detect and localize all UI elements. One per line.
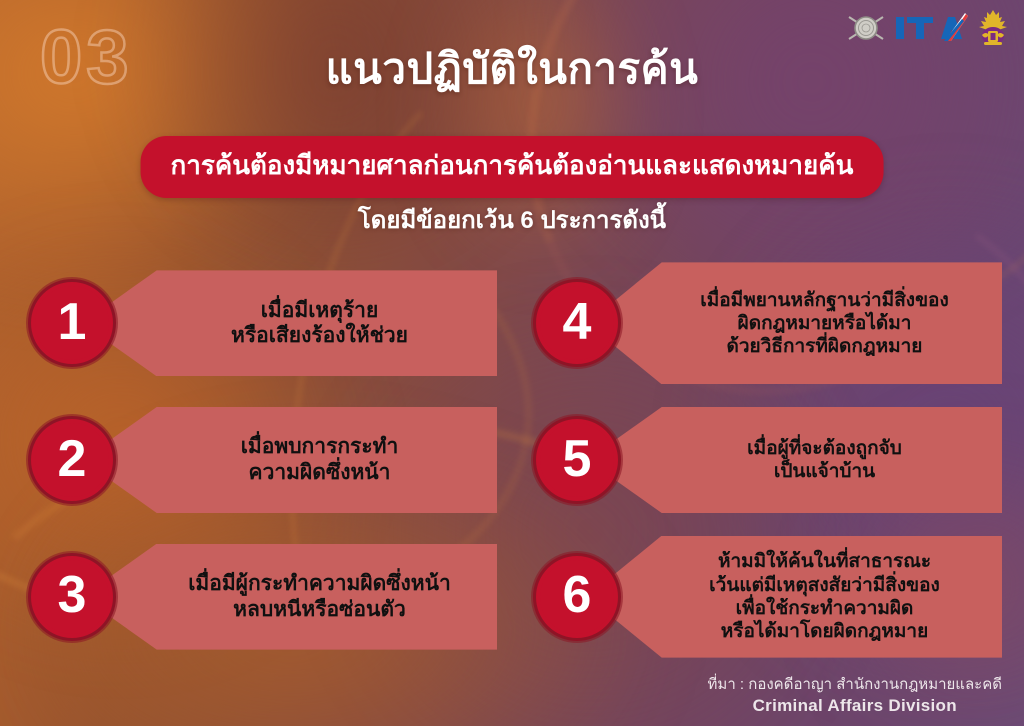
item-text: เมื่อมีพยานหลักฐานว่ามีสิ่งของ ผิดกฎหมาย… (700, 289, 949, 359)
item-number-badge: 2 (28, 416, 116, 504)
list-item[interactable]: 4 เมื่อมีพยานหลักฐานว่ามีสิ่งของ ผิดกฎหม… (533, 255, 1002, 392)
item-number-badge: 6 (533, 553, 621, 641)
item-text-line: หรือเสียงร้องให้ช่วย (231, 323, 408, 349)
item-text-line: ความผิดซึ่งหน้า (241, 460, 399, 486)
item-number-badge: 1 (28, 279, 116, 367)
list-item[interactable]: 3 เมื่อมีผู้กระทำความผิดซึ่งหน้า หลบหนีห… (28, 528, 497, 665)
source-credit-english: Criminal Affairs Division (708, 695, 1002, 718)
list-item[interactable]: 2 เมื่อพบการกระทำ ความผิดซึ่งหน้า (28, 392, 497, 529)
item-text: เมื่อมีเหตุร้าย หรือเสียงร้องให้ช่วย (231, 298, 408, 349)
item-text: เมื่อพบการกระทำ ความผิดซึ่งหน้า (241, 434, 399, 485)
item-text-line: หรือได้มาโดยผิดกฎหมาย (709, 620, 940, 643)
item-text-line: เมื่อมีเหตุร้าย (231, 298, 408, 324)
item-number-badge: 4 (533, 279, 621, 367)
ita-seal-icon (846, 9, 886, 47)
footer: ที่มา : กองคดีอาญา สำนักงานกฎหมายและคดี … (708, 675, 1002, 718)
list-item[interactable]: 1 เมื่อมีเหตุร้าย หรือเสียงร้องให้ช่วย (28, 255, 497, 392)
item-text-line: เพื่อใช้กระทำความผิด (709, 597, 940, 620)
subtitle: โดยมีข้อยกเว้น 6 ประการดังนี้ (0, 200, 1024, 239)
item-text-line: เมื่อมีผู้กระทำความผิดซึ่งหน้า (188, 571, 451, 597)
item-arrow-panel: เมื่อมีผู้กระทำความผิดซึ่งหน้า หลบหนีหรื… (82, 544, 497, 650)
item-text: ห้ามมิให้ค้นในที่สาธารณะ เว้นแต่มีเหตุสง… (709, 550, 940, 643)
item-arrow-panel: เมื่อผู้ที่จะต้องถูกจับ เป็นแจ้าบ้าน (587, 407, 1002, 513)
item-text-line: เมื่อผู้ที่จะต้องถูกจับ (747, 437, 902, 460)
item-arrow-panel: ห้ามมิให้ค้นในที่สาธารณะ เว้นแต่มีเหตุสง… (587, 536, 1002, 658)
main-banner: การค้นต้องมีหมายศาลก่อนการค้นต้องอ่านและ… (141, 136, 884, 198)
item-text: เมื่อผู้ที่จะต้องถูกจับ เป็นแจ้าบ้าน (747, 437, 902, 483)
logo-group (846, 6, 1008, 50)
item-text: เมื่อมีผู้กระทำความผิดซึ่งหน้า หลบหนีหรื… (188, 571, 451, 622)
item-text-line: ผิดกฎหมายหรือได้มา (700, 312, 949, 335)
item-text-line: เมื่อมีพยานหลักฐานว่ามีสิ่งของ (700, 289, 949, 312)
items-grid: 1 เมื่อมีเหตุร้าย หรือเสียงร้องให้ช่วย 2… (0, 255, 1024, 665)
item-text-line: เว้นแต่มีเหตุสงสัยว่ามีสิ่งของ (709, 574, 940, 597)
list-item[interactable]: 5 เมื่อผู้ที่จะต้องถูกจับ เป็นแจ้าบ้าน (533, 392, 1002, 529)
list-item[interactable]: 6 ห้ามมิให้ค้นในที่สาธารณะ เว้นแต่มีเหตุ… (533, 528, 1002, 665)
item-number-badge: 5 (533, 416, 621, 504)
item-arrow-panel: เมื่อพบการกระทำ ความผิดซึ่งหน้า (82, 407, 497, 513)
item-text-line: ห้ามมิให้ค้นในที่สาธารณะ (709, 550, 940, 573)
item-text-line: หลบหนีหรือซ่อนตัว (188, 597, 451, 623)
item-arrow-panel: เมื่อมีพยานหลักฐานว่ามีสิ่งของ ผิดกฎหมาย… (587, 262, 1002, 384)
item-arrow-panel: เมื่อมีเหตุร้าย หรือเสียงร้องให้ช่วย (82, 270, 497, 376)
source-credit: ที่มา : กองคดีอาญา สำนักงานกฎหมายและคดี (708, 675, 1002, 695)
left-column: 1 เมื่อมีเหตุร้าย หรือเสียงร้องให้ช่วย 2… (0, 255, 513, 665)
royal-thai-emblem-icon (978, 9, 1008, 47)
item-text-line: ด้วยวิธีการที่ผิดกฎหมาย (700, 335, 949, 358)
item-number-badge: 3 (28, 553, 116, 641)
item-text-line: เมื่อพบการกระทำ (241, 434, 399, 460)
ita-wordmark-icon (895, 11, 969, 45)
item-text-line: เป็นแจ้าบ้าน (747, 460, 902, 483)
infographic-poster: 03 แนวปฏิบัติในการค้น (0, 0, 1024, 726)
right-column: 4 เมื่อมีพยานหลักฐานว่ามีสิ่งของ ผิดกฎหม… (513, 255, 1024, 665)
